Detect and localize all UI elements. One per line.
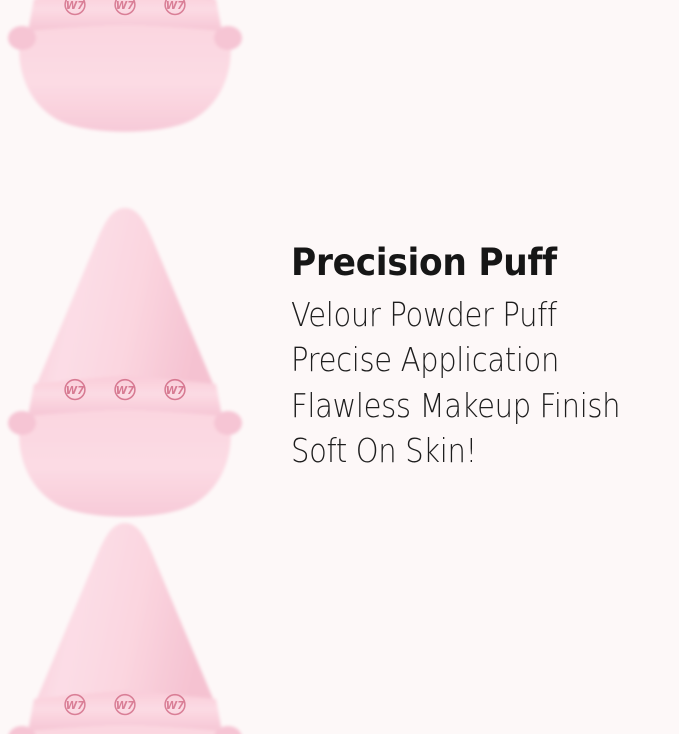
puff-base-shape <box>19 409 231 517</box>
feature-item: Soft On Skin! <box>291 428 636 473</box>
svg-text:W7: W7 <box>66 385 85 397</box>
product-title: Precision Puff <box>291 243 656 282</box>
powder-puff-top: W7 W7 W7 <box>0 0 250 135</box>
product-image: W7 W7 W7 <box>0 0 679 734</box>
svg-text:W7: W7 <box>166 700 185 712</box>
svg-text:W7: W7 <box>166 0 185 12</box>
puff-product-stack: W7 W7 W7 <box>0 0 250 734</box>
svg-text:W7: W7 <box>116 0 135 12</box>
product-copy-block: Precision Puff Velour Powder Puff Precis… <box>291 243 679 473</box>
powder-puff-bottom: W7 W7 W7 <box>0 505 250 734</box>
svg-text:W7: W7 <box>66 0 85 12</box>
product-feature-list: Velour Powder Puff Precise Application F… <box>291 292 679 473</box>
powder-puff-middle: W7 W7 W7 <box>0 190 250 520</box>
svg-text:W7: W7 <box>66 700 85 712</box>
feature-item: Velour Powder Puff <box>291 292 636 337</box>
feature-item: Flawless Makeup Finish <box>291 383 636 428</box>
svg-text:W7: W7 <box>116 385 135 397</box>
svg-text:W7: W7 <box>166 385 185 397</box>
svg-text:W7: W7 <box>116 700 135 712</box>
puff-base-shape <box>19 24 231 132</box>
feature-item: Precise Application <box>291 337 636 382</box>
